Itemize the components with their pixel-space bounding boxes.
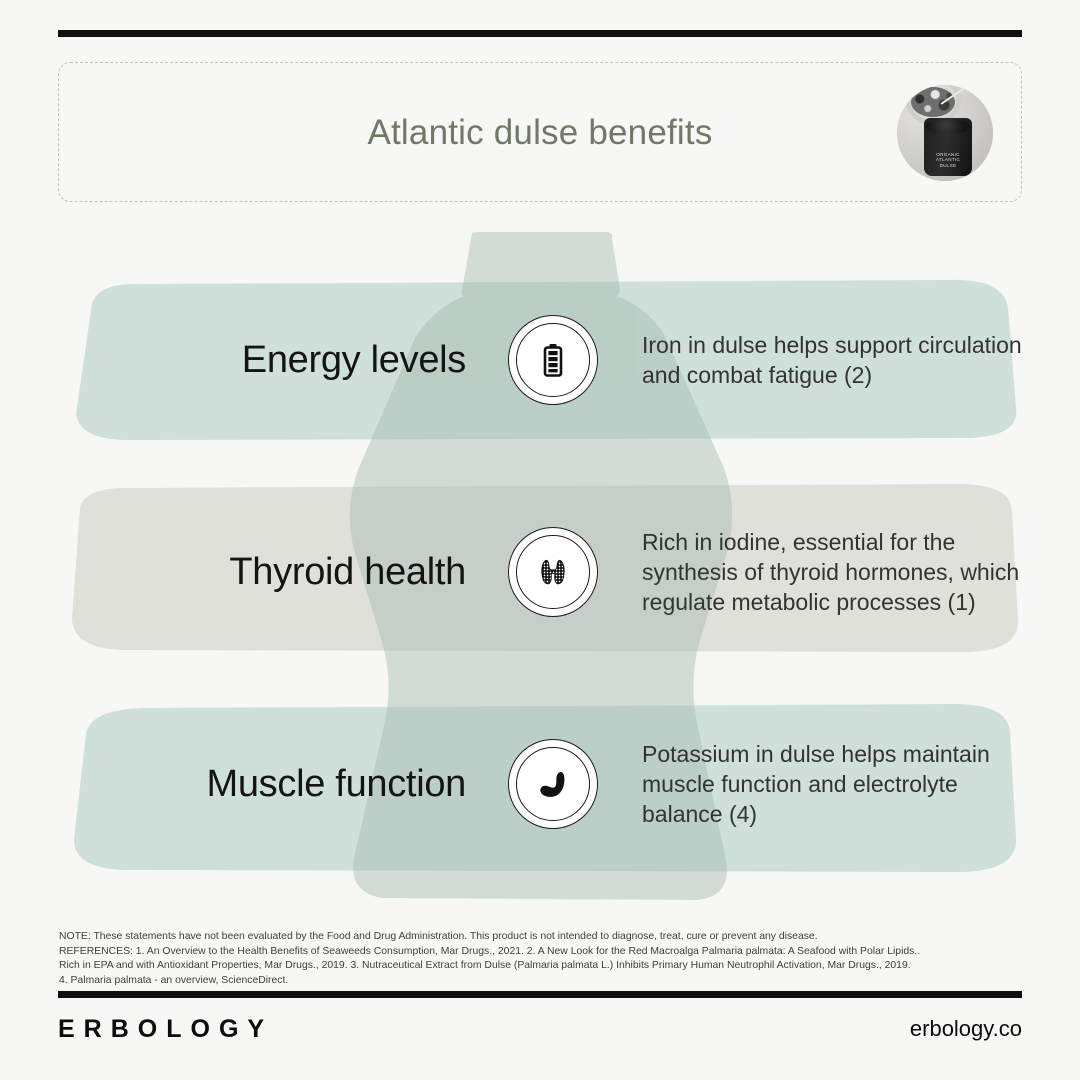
page-title: Atlantic dulse benefits <box>59 113 1021 153</box>
benefit-desc-muscle: Potassium in dulse helps maintain muscle… <box>598 739 1022 829</box>
note-disclaimer: NOTE: These statements have not been eva… <box>59 930 1019 945</box>
note-references-1: REFERENCES: 1. An Overview to the Health… <box>59 945 1019 960</box>
benefit-title-muscle: Muscle function <box>58 763 508 806</box>
photo-jar-opening <box>926 119 970 134</box>
website-url[interactable]: erbology.co <box>910 1016 1022 1042</box>
bottom-rule <box>58 991 1022 998</box>
benefit-title-energy: Energy levels <box>58 339 508 382</box>
infographic-canvas: Atlantic dulse benefits ORGANIC ATLANTIC… <box>0 0 1080 1080</box>
footnotes: NOTE: These statements have not been eva… <box>59 930 1019 988</box>
benefit-row-muscle: Muscle function Potassium in dulse helps… <box>58 742 1022 826</box>
benefit-desc-thyroid: Rich in iodine, essential for the synthe… <box>598 527 1022 617</box>
battery-icon <box>508 315 598 405</box>
photo-jar-label: ORGANIC ATLANTIC DULSE <box>927 152 969 168</box>
benefit-row-thyroid: Thyroid health Rich in iodine, essential… <box>58 530 1022 614</box>
flexed-bicep-icon <box>508 739 598 829</box>
top-rule <box>58 30 1022 37</box>
product-jar-photo: ORGANIC ATLANTIC DULSE <box>897 85 993 181</box>
brand-wordmark: ERBOLOGY <box>58 1015 273 1044</box>
benefit-desc-energy: Iron in dulse helps support circulation … <box>598 330 1022 390</box>
photo-dulse-flakes <box>911 87 955 117</box>
benefit-row-energy: Energy levels Iron in dulse helps suppor… <box>58 318 1022 402</box>
note-references-3: 4. Palmaria palmata - an overview, Scien… <box>59 974 1019 989</box>
photo-jar: ORGANIC ATLANTIC DULSE <box>924 118 972 176</box>
thyroid-gland-icon <box>508 527 598 617</box>
note-references-2: Rich in EPA and with Antioxidant Propert… <box>59 959 1019 974</box>
jar-label-line2: ATLANTIC DULSE <box>927 157 969 168</box>
header-card: Atlantic dulse benefits ORGANIC ATLANTIC… <box>58 62 1022 202</box>
benefit-title-thyroid: Thyroid health <box>58 551 508 594</box>
